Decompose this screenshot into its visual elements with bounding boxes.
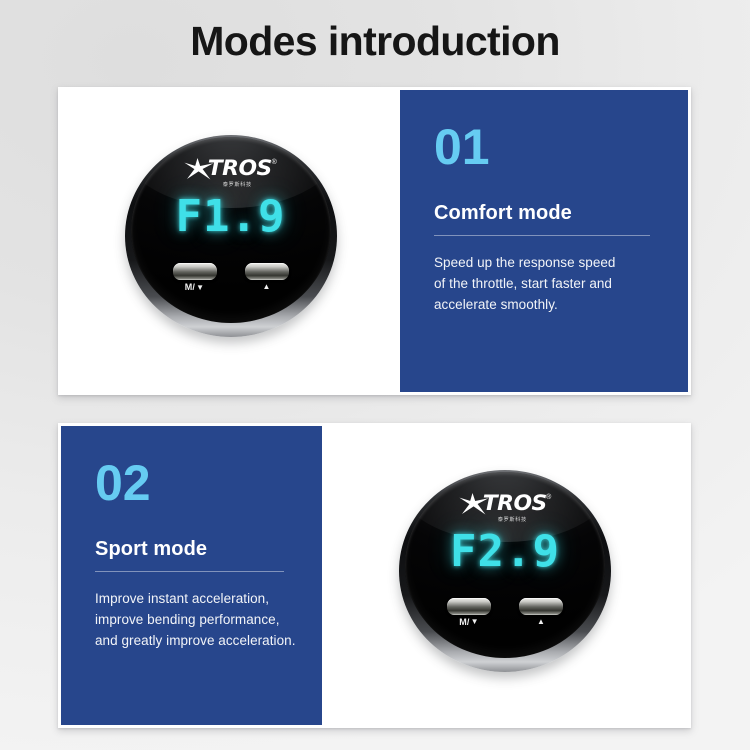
device-face: TROS ® 泰罗斯科技 F1.9 M/ ▼: [131, 137, 331, 323]
mode-name-sport: Sport mode: [95, 538, 292, 560]
logo-wordmark: TROS: [482, 493, 546, 513]
divider: [434, 235, 650, 236]
led-display-value: F2.9: [405, 530, 605, 574]
desc-line: improve bending performance,: [95, 610, 292, 631]
triangle-down-icon: ▼: [196, 283, 204, 292]
desc-line: Improve instant acceleration,: [95, 589, 292, 610]
logo-wordmark: TROS: [208, 158, 272, 178]
up-label: ▲: [262, 282, 270, 291]
mode-down-text: M/: [459, 617, 469, 627]
logo-row: TROS ®: [184, 158, 277, 180]
mode-down-button[interactable]: M/ ▼: [172, 263, 218, 292]
mode-down-keycap[interactable]: [447, 598, 491, 615]
desc-line: and greatly improve acceleration.: [95, 631, 292, 652]
triangle-down-icon: ▼: [471, 617, 479, 626]
registered-mark-icon: ®: [272, 159, 277, 167]
up-keycap[interactable]: [519, 598, 563, 615]
throttle-controller-device: TROS ® 泰罗斯科技 F2.9 M/ ▼: [399, 470, 611, 682]
up-label: ▲: [537, 617, 545, 626]
edge-light: [405, 472, 605, 658]
star-icon: [459, 493, 489, 515]
page-title: Modes introduction: [0, 17, 750, 66]
device-button-row: M/ ▼ ▲: [131, 263, 331, 292]
device-face: TROS ® 泰罗斯科技 F2.9 M/ ▼: [405, 472, 605, 658]
desc-line: Speed up the response speed: [434, 253, 658, 274]
mode-name-comfort: Comfort mode: [434, 202, 658, 224]
logo-row: TROS ®: [459, 493, 552, 515]
desc-line: accelerate smoothly.: [434, 295, 658, 316]
logo-subtext: 泰罗斯科技: [223, 180, 252, 188]
star-icon: [184, 158, 214, 180]
mode-number-02: 02: [95, 458, 292, 508]
triangle-up-icon: ▲: [262, 282, 270, 291]
gloss-highlight: [131, 137, 331, 208]
mode-number-01: 01: [434, 122, 658, 172]
text-panel-comfort: 01 Comfort mode Speed up the response sp…: [400, 90, 688, 392]
mode-card-sport: 02 Sport mode Improve instant accelerati…: [58, 423, 691, 728]
edge-light: [131, 137, 331, 323]
mode-card-comfort: TROS ® 泰罗斯科技 F1.9 M/ ▼: [58, 87, 691, 395]
mode-down-label: M/ ▼: [459, 617, 479, 627]
device-panel-comfort: TROS ® 泰罗斯科技 F1.9 M/ ▼: [61, 90, 400, 392]
led-display-value: F1.9: [131, 195, 331, 239]
desc-line: of the throttle, start faster and: [434, 274, 658, 295]
up-keycap[interactable]: [245, 263, 289, 280]
mode-description-comfort: Speed up the response speed of the throt…: [434, 253, 658, 316]
tros-logo: TROS ® 泰罗斯科技: [131, 158, 331, 188]
text-panel-sport: 02 Sport mode Improve instant accelerati…: [61, 426, 322, 725]
divider: [95, 571, 284, 572]
mode-down-keycap[interactable]: [173, 263, 217, 280]
device-panel-sport: TROS ® 泰罗斯科技 F2.9 M/ ▼: [322, 426, 688, 725]
device-button-row: M/ ▼ ▲: [405, 598, 605, 627]
up-button[interactable]: ▲: [518, 598, 564, 627]
up-button[interactable]: ▲: [244, 263, 290, 292]
triangle-up-icon: ▲: [537, 617, 545, 626]
registered-mark-icon: ®: [546, 494, 551, 502]
gloss-highlight: [405, 472, 605, 543]
mode-description-sport: Improve instant acceleration, improve be…: [95, 589, 292, 652]
logo-subtext: 泰罗斯科技: [497, 515, 526, 523]
mode-down-text: M/: [185, 282, 195, 292]
page-root: Modes introduction TROS ®: [0, 0, 750, 750]
mode-down-button[interactable]: M/ ▼: [446, 598, 492, 627]
mode-down-label: M/ ▼: [185, 282, 205, 292]
throttle-controller-device: TROS ® 泰罗斯科技 F1.9 M/ ▼: [125, 135, 337, 347]
